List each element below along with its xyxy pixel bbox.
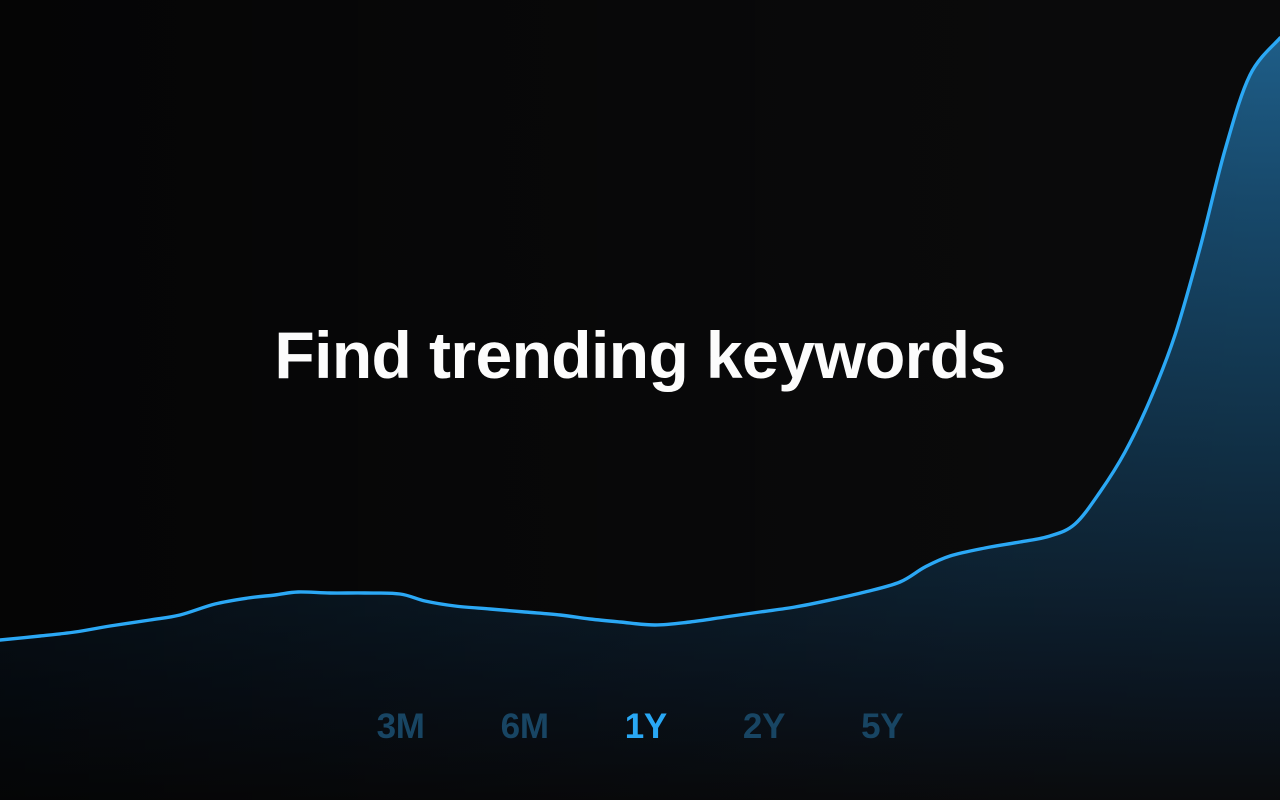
range-option-6m[interactable]: 6M <box>499 700 551 754</box>
range-option-5y[interactable]: 5Y <box>859 700 905 754</box>
range-option-3m[interactable]: 3M <box>375 700 427 754</box>
range-option-2y[interactable]: 2Y <box>741 700 787 754</box>
page-title: Find trending keywords <box>0 313 1280 397</box>
time-range-selector: 3M 6M 1Y 2Y 5Y <box>0 700 1280 754</box>
range-option-1y[interactable]: 1Y <box>623 700 669 754</box>
chart-fill-fade-overlay <box>0 0 1280 800</box>
trend-area-chart <box>0 0 1280 800</box>
trending-keywords-hero: Find trending keywords 3M 6M 1Y 2Y 5Y <box>0 0 1280 800</box>
